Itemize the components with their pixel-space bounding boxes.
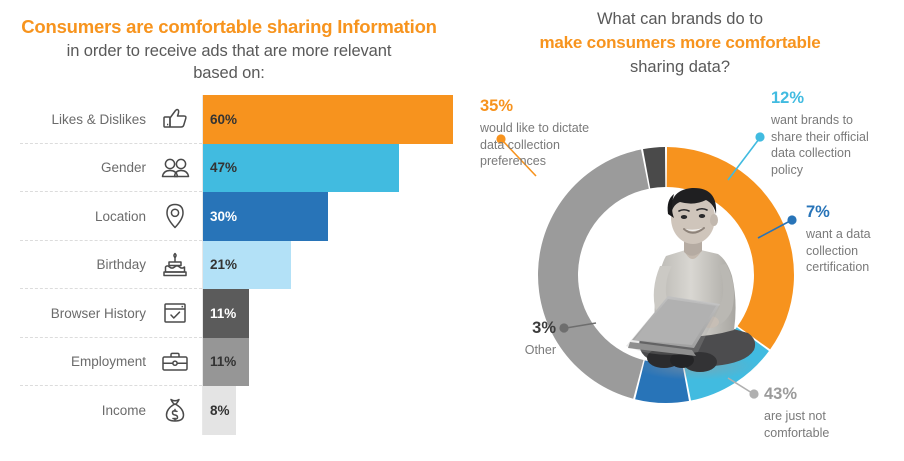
callout-description: would like to dictate data collection pr… xyxy=(480,120,620,170)
callout-percent: 12% xyxy=(771,88,899,110)
bar-value-label: 11% xyxy=(210,354,236,369)
bar-chart-panel: Consumers are comfortable sharing Inform… xyxy=(0,0,470,461)
bar-fill[interactable]: 30% xyxy=(203,192,328,241)
bar-row[interactable]: Likes & Dislikes60% xyxy=(0,95,470,144)
left-panel-title: Consumers are comfortable sharing Inform… xyxy=(0,14,458,85)
bar-row-label: Income xyxy=(0,386,148,435)
bar-row-label: Location xyxy=(0,192,148,241)
map-pin-icon xyxy=(148,192,202,241)
bar-row[interactable]: Birthday21% xyxy=(0,241,470,290)
donut-chart-panel: What can brands do to make consumers mor… xyxy=(470,0,904,461)
bar-value-label: 30% xyxy=(210,209,237,224)
bar-fill[interactable]: 11% xyxy=(203,289,249,338)
bar-row-label: Employment xyxy=(0,338,148,387)
thumbs-up-icon xyxy=(148,95,202,144)
bar-row[interactable]: Browser History11% xyxy=(0,289,470,338)
row-separator xyxy=(20,337,202,338)
left-title-line3: based on: xyxy=(0,62,458,85)
callout-official-policy: 12% want brands to share their official … xyxy=(771,88,899,178)
bar-value-label: 60% xyxy=(210,112,237,127)
bar-track: 21% xyxy=(202,241,470,290)
money-bag-icon xyxy=(148,386,202,435)
donut-stage: 35% would like to dictate data collectio… xyxy=(470,0,904,461)
bar-row[interactable]: Location30% xyxy=(0,192,470,241)
row-separator xyxy=(20,143,202,144)
infographic-canvas: Consumers are comfortable sharing Inform… xyxy=(0,0,904,461)
bar-value-label: 47% xyxy=(210,160,237,175)
callout-percent: 43% xyxy=(764,384,896,406)
bar-row[interactable]: Income8% xyxy=(0,386,470,435)
birthday-cake-icon xyxy=(148,241,202,290)
callout-percent: 35% xyxy=(480,96,620,118)
bar-track: 11% xyxy=(202,289,470,338)
row-separator xyxy=(20,385,202,386)
bar-fill[interactable]: 60% xyxy=(203,95,453,144)
callout-description: want brands to share their official data… xyxy=(771,112,899,179)
bar-value-label: 21% xyxy=(210,257,237,272)
callout-description: Other xyxy=(470,342,556,359)
row-separator xyxy=(20,191,202,192)
bar-row-label: Browser History xyxy=(0,289,148,338)
callout-other: 3% Other xyxy=(470,318,556,359)
bar-fill[interactable]: 8% xyxy=(203,386,236,435)
bar-value-label: 8% xyxy=(210,403,230,418)
callout-dictate-preferences: 35% would like to dictate data collectio… xyxy=(480,96,620,170)
callout-description: want a data collection certification xyxy=(806,226,902,276)
bar-track: 30% xyxy=(202,192,470,241)
bar-track: 8% xyxy=(202,386,470,435)
person-with-laptop-photo xyxy=(622,170,772,385)
bar-row-label: Birthday xyxy=(0,241,148,290)
bar-track: 11% xyxy=(202,338,470,387)
bar-fill[interactable]: 21% xyxy=(203,241,291,290)
left-title-line2: in order to receive ads that are more re… xyxy=(0,40,458,63)
briefcase-icon xyxy=(148,338,202,387)
bar-track: 47% xyxy=(202,144,470,193)
bar-fill[interactable]: 47% xyxy=(203,144,399,193)
bar-list: Likes & Dislikes60%Gender47%Location30%B… xyxy=(0,95,470,435)
bar-fill[interactable]: 11% xyxy=(203,338,249,387)
bar-row[interactable]: Employment11% xyxy=(0,338,470,387)
bar-row-label: Likes & Dislikes xyxy=(0,95,148,144)
callout-percent: 3% xyxy=(470,318,556,340)
callout-percent: 7% xyxy=(806,202,902,224)
browser-check-icon xyxy=(148,289,202,338)
bar-row[interactable]: Gender47% xyxy=(0,144,470,193)
row-separator xyxy=(20,288,202,289)
callout-data-certification: 7% want a data collection certification xyxy=(806,202,902,276)
bar-track: 60% xyxy=(202,95,470,144)
left-title-highlight: Consumers are comfortable sharing Inform… xyxy=(0,14,458,40)
bar-row-label: Gender xyxy=(0,144,148,193)
callout-description: are just not comfortable xyxy=(764,408,896,441)
row-separator xyxy=(20,240,202,241)
two-people-icon xyxy=(148,144,202,193)
callout-not-comfortable: 43% are just not comfortable xyxy=(764,384,896,441)
bar-value-label: 11% xyxy=(210,306,236,321)
